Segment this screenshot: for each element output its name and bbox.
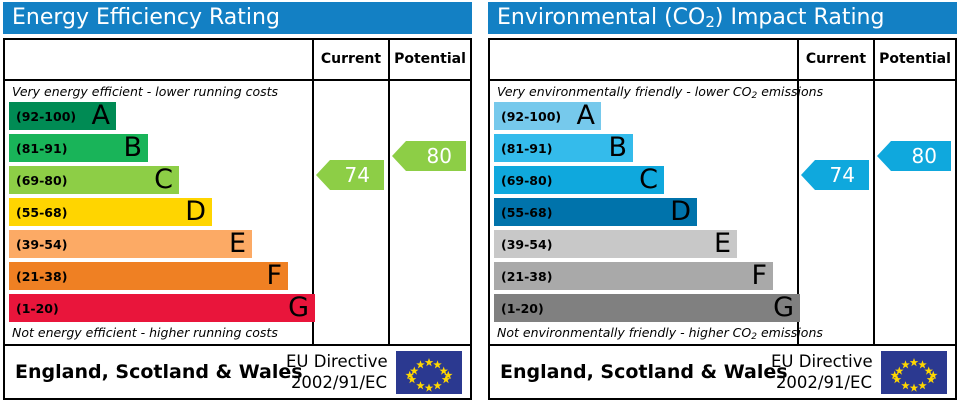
band-range-b: (81-91) [16, 134, 67, 162]
band-bar-e: (39-54) E [9, 230, 252, 258]
band-bar-a: (92-100) A [494, 102, 601, 130]
caption-top-energy: Very energy efficient - lower running co… [12, 84, 278, 99]
band-letter-c: C [154, 166, 173, 194]
band-bar-f: (21-38) F [494, 262, 773, 290]
band-range-e: (39-54) [501, 230, 552, 258]
footer-directive-line1: EU Directive [286, 351, 387, 372]
band-bar-g: (1-20) G [9, 294, 315, 322]
band-bar-g: (1-20) G [494, 294, 800, 322]
band-range-g: (1-20) [501, 294, 544, 322]
potential-rating-arrow: 80 [877, 141, 951, 171]
caption-top-co2: Very environmentally friendly - lower CO… [497, 84, 823, 99]
chart-title-energy: Energy Efficiency Rating [3, 2, 472, 34]
caption-bottom-energy: Not energy efficient - higher running co… [12, 325, 278, 340]
band-bar-b: (81-91) B [9, 134, 148, 162]
band-letter-b: B [123, 134, 142, 162]
band-range-d: (55-68) [501, 198, 552, 226]
header-divider [490, 79, 955, 81]
eu-flag-icon [395, 350, 463, 395]
footer-region-label: England, Scotland & Wales [15, 346, 303, 398]
column-divider-potential [388, 40, 390, 344]
epc-charts-page: Energy Efficiency Rating Current Potenti… [0, 0, 957, 404]
band-letter-f: F [266, 262, 282, 290]
band-bar-a: (92-100) A [9, 102, 116, 130]
chart-title-co2: Environmental (CO2) Impact Rating [488, 2, 957, 34]
band-bar-d: (55-68) D [9, 198, 212, 226]
column-header-potential: Potential [390, 40, 470, 79]
band-range-f: (21-38) [16, 262, 67, 290]
band-letter-f: F [751, 262, 767, 290]
band-letter-g: G [288, 294, 309, 322]
band-range-b: (81-91) [501, 134, 552, 162]
column-divider-potential [873, 40, 875, 344]
band-bar-b: (81-91) B [494, 134, 633, 162]
energy-band-bars: (92-100) A (81-91) B (69-80) C (55-68) D… [9, 102, 312, 324]
current-rating-arrow: 74 [316, 160, 384, 190]
caption-bottom-co2: Not environmentally friendly - higher CO… [497, 325, 823, 340]
band-letter-e: E [229, 230, 246, 258]
band-bar-c: (69-80) C [494, 166, 664, 194]
potential-rating-arrow: 80 [392, 141, 466, 171]
co2-impact-rating-chart: Environmental (CO2) Impact Rating Curren… [485, 0, 957, 404]
band-range-d: (55-68) [16, 198, 67, 226]
energy-chart-frame: Current Potential Very energy efficient … [3, 38, 472, 400]
footer-directive-line2: 2002/91/EC [771, 372, 872, 393]
energy-efficiency-rating-chart: Energy Efficiency Rating Current Potenti… [0, 0, 475, 404]
band-range-g: (1-20) [16, 294, 59, 322]
current-rating-arrow: 74 [801, 160, 869, 190]
eu-flag-icon [880, 350, 948, 395]
band-letter-d: D [185, 198, 206, 226]
co2-footer: England, Scotland & Wales EU Directive 2… [490, 346, 955, 398]
footer-directive: EU Directive 2002/91/EC [286, 351, 387, 393]
band-letter-b: B [608, 134, 627, 162]
band-range-f: (21-38) [501, 262, 552, 290]
footer-directive: EU Directive 2002/91/EC [771, 351, 872, 393]
band-range-e: (39-54) [16, 230, 67, 258]
band-bar-f: (21-38) F [9, 262, 288, 290]
band-letter-c: C [639, 166, 658, 194]
band-letter-a: A [577, 102, 595, 130]
band-range-c: (69-80) [501, 166, 552, 194]
footer-directive-line2: 2002/91/EC [286, 372, 387, 393]
band-letter-a: A [92, 102, 110, 130]
band-bar-e: (39-54) E [494, 230, 737, 258]
band-letter-d: D [670, 198, 691, 226]
energy-footer: England, Scotland & Wales EU Directive 2… [5, 346, 470, 398]
band-range-a: (92-100) [501, 102, 561, 130]
band-range-c: (69-80) [16, 166, 67, 194]
footer-directive-line1: EU Directive [771, 351, 872, 372]
header-divider [5, 79, 470, 81]
footer-region-label: England, Scotland & Wales [500, 346, 788, 398]
co2-band-bars: (92-100) A (81-91) B (69-80) C (55-68) D… [494, 102, 797, 324]
column-header-current: Current [314, 40, 388, 79]
co2-chart-frame: Current Potential Very environmentally f… [488, 38, 957, 400]
band-bar-d: (55-68) D [494, 198, 697, 226]
chart-title-co2-text: Environmental (CO2) Impact Rating [497, 5, 884, 30]
band-bar-c: (69-80) C [9, 166, 179, 194]
chart-title-energy-text: Energy Efficiency Rating [12, 5, 280, 30]
column-header-current: Current [799, 40, 873, 79]
column-header-potential: Potential [875, 40, 955, 79]
band-range-a: (92-100) [16, 102, 76, 130]
band-letter-g: G [773, 294, 794, 322]
band-letter-e: E [714, 230, 731, 258]
